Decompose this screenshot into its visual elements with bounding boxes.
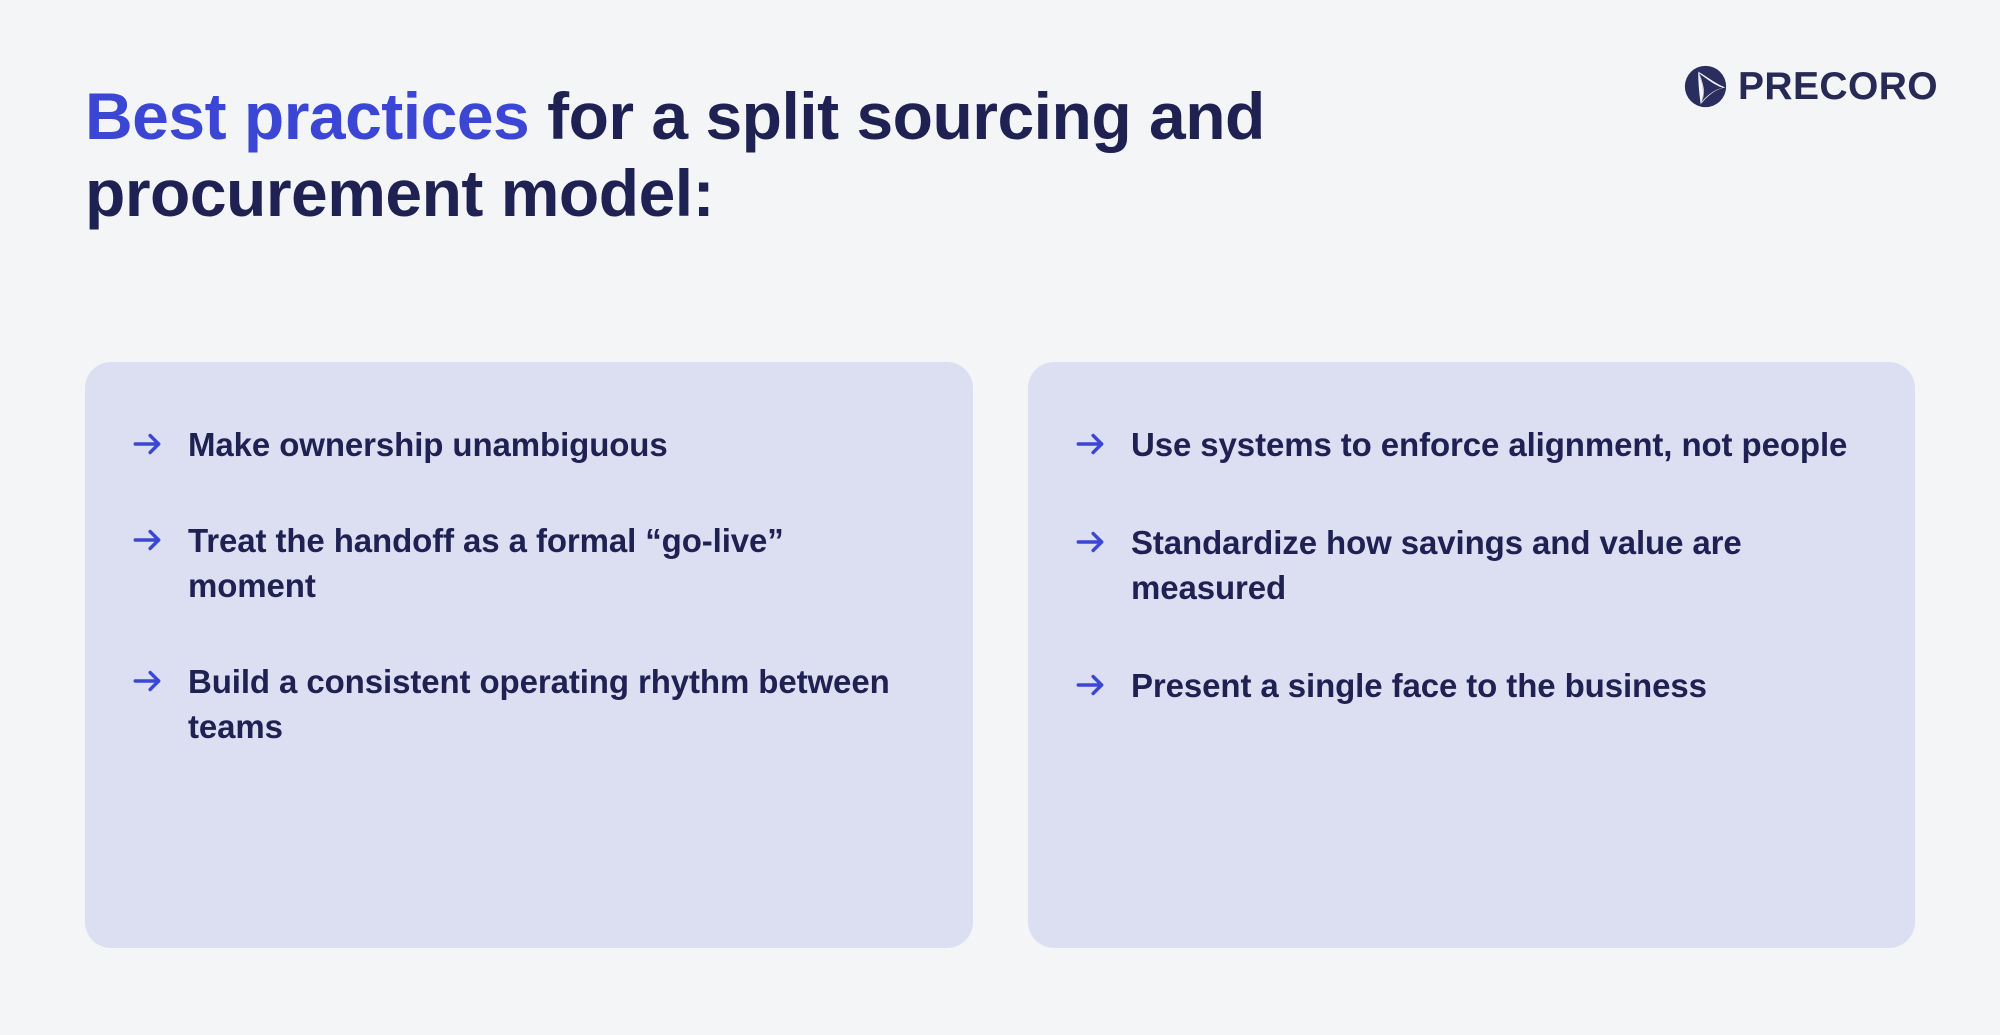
- bullet-list-right: Use systems to enforce alignment, not pe…: [1074, 422, 1869, 708]
- card-right: Use systems to enforce alignment, not pe…: [1028, 362, 1915, 948]
- best-practices-cards: Make ownership unambiguous Treat the han…: [85, 362, 1915, 948]
- list-item: Present a single face to the business: [1074, 663, 1869, 709]
- bullet-text: Make ownership unambiguous: [188, 422, 668, 468]
- arrow-right-icon: [1074, 425, 1108, 463]
- bullet-text: Treat the handoff as a formal “go-live” …: [188, 518, 918, 609]
- precoro-circle-play-icon: [1684, 65, 1727, 108]
- precoro-logo: PRECORO: [1684, 62, 1938, 110]
- card-left: Make ownership unambiguous Treat the han…: [85, 362, 973, 948]
- list-item: Make ownership unambiguous: [131, 422, 927, 468]
- arrow-right-icon: [1074, 666, 1108, 704]
- bullet-list-left: Make ownership unambiguous Treat the han…: [131, 422, 927, 750]
- arrow-right-icon: [1074, 523, 1108, 561]
- page-title-accent: Best practices: [85, 79, 529, 153]
- list-item: Standardize how savings and value are me…: [1074, 520, 1869, 611]
- bullet-text: Build a consistent operating rhythm betw…: [188, 659, 918, 750]
- list-item: Treat the handoff as a formal “go-live” …: [131, 518, 927, 609]
- arrow-right-icon: [131, 521, 165, 559]
- arrow-right-icon: [131, 662, 165, 700]
- bullet-text: Use systems to enforce alignment, not pe…: [1131, 422, 1847, 468]
- arrow-right-icon: [131, 425, 165, 463]
- bullet-text: Standardize how savings and value are me…: [1131, 520, 1861, 611]
- list-item: Build a consistent operating rhythm betw…: [131, 659, 927, 750]
- page-header: Best practices for a split sourcing and …: [0, 0, 2000, 300]
- page-title: Best practices for a split sourcing and …: [85, 78, 1505, 231]
- list-item: Use systems to enforce alignment, not pe…: [1074, 422, 1869, 468]
- logo-wordmark: PRECORO: [1738, 67, 1938, 106]
- bullet-text: Present a single face to the business: [1131, 663, 1707, 709]
